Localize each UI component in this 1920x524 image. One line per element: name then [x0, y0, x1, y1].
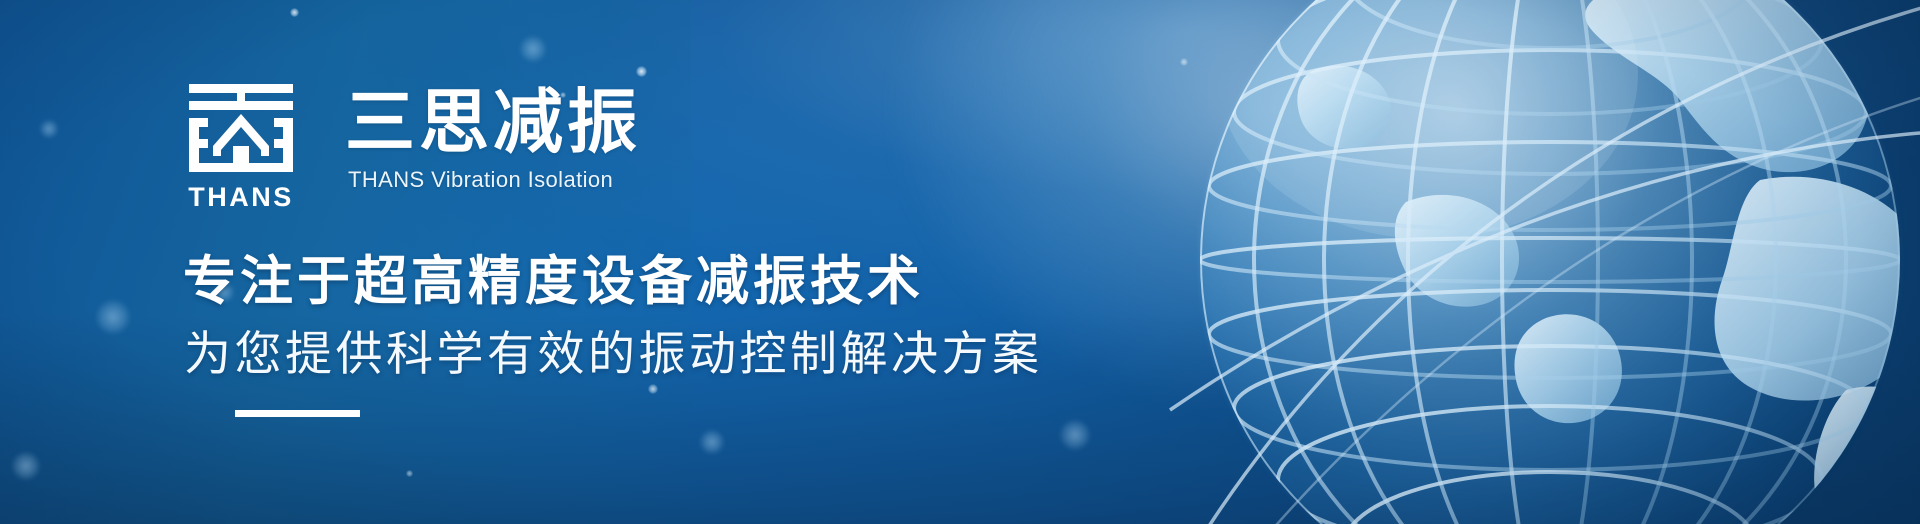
banner-content: THANS 三思减振 THANS Vibration Isolation 专注于…	[180, 0, 1180, 524]
logo-wordmark: THANS	[188, 184, 294, 211]
logo[interactable]: THANS	[180, 84, 302, 211]
brand-text: 三思减振 THANS Vibration Isolation	[345, 84, 641, 193]
brand-name-en: THANS Vibration Isolation	[348, 167, 641, 193]
light-particle	[40, 120, 58, 138]
light-particle	[1180, 58, 1188, 66]
light-particle	[96, 300, 130, 334]
light-particle	[12, 452, 40, 480]
underline-bar	[235, 410, 360, 417]
hero-banner: THANS 三思减振 THANS Vibration Isolation 专注于…	[0, 0, 1920, 524]
banner-headline: 专注于超高精度设备减振技术	[183, 254, 924, 310]
brand-lockup: THANS 三思减振 THANS Vibration Isolation	[180, 84, 641, 211]
banner-subline: 为您提供科学有效的振动控制解决方案	[184, 329, 1043, 378]
brand-name-cn: 三思减振	[345, 86, 641, 159]
thans-monogram-icon	[189, 84, 293, 172]
